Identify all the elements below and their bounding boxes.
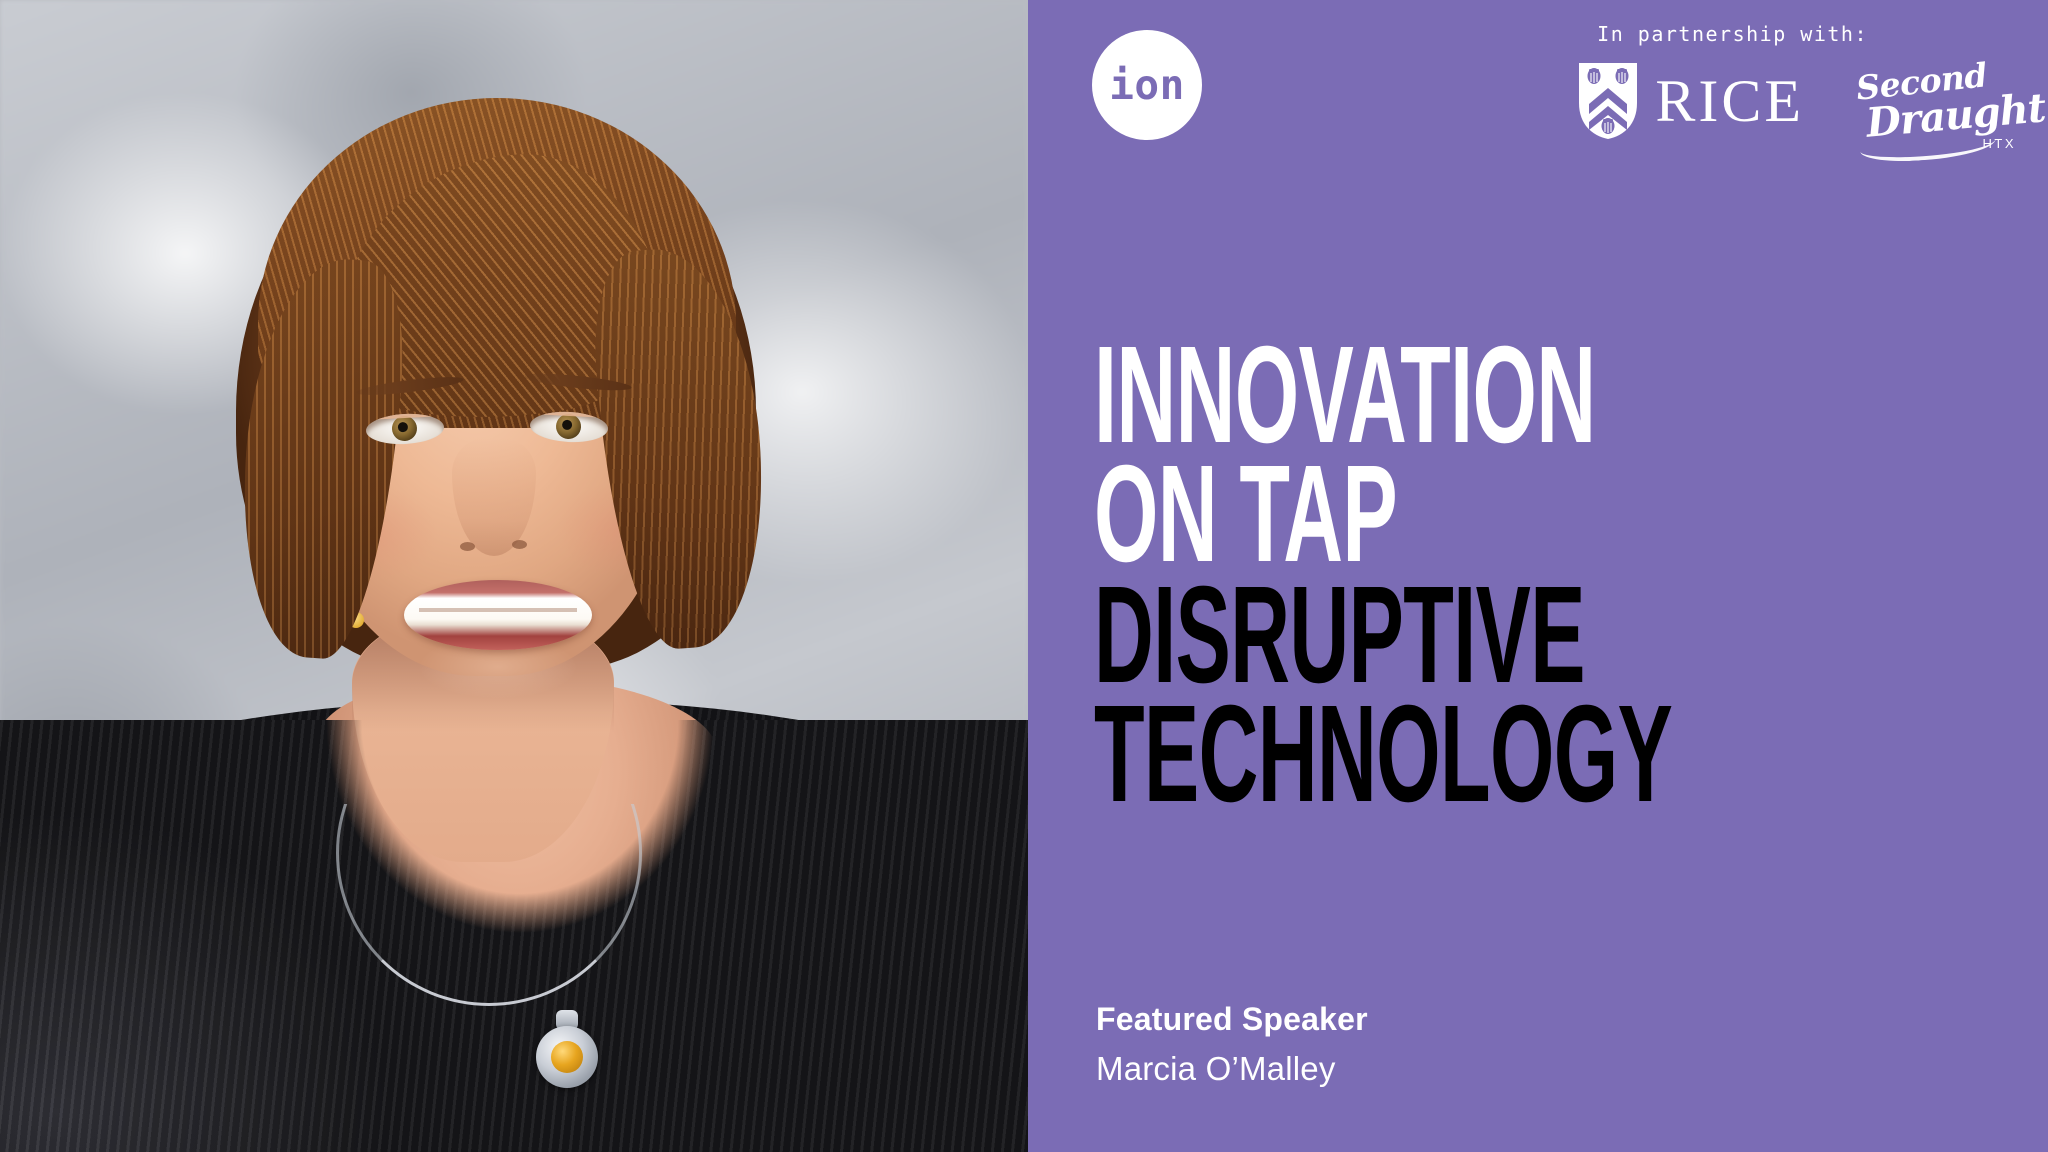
- nostril-left: [460, 542, 475, 551]
- event-headline: INNOVATION ON TAP DISRUPTIVE TECHNOLOGY: [1094, 336, 1994, 814]
- featured-speaker-label: Featured Speaker: [1096, 1000, 1368, 1038]
- ion-logo[interactable]: ion: [1092, 30, 1202, 140]
- featured-speaker-block: Featured Speaker Marcia O’Malley: [1096, 1000, 1368, 1090]
- ion-logo-text: ion: [1109, 65, 1185, 106]
- second-draught-logo[interactable]: Second Draught HTX: [1850, 60, 2018, 152]
- speaker-portrait-photo: [0, 0, 1028, 1152]
- second-draught-swash: [1859, 126, 1996, 163]
- iris-left: [391, 415, 417, 441]
- rice-university-logo[interactable]: RICE: [1577, 60, 1804, 142]
- partners-block: In partnership with:: [1410, 22, 2030, 152]
- content-panel: ion In partnership with:: [1028, 0, 2048, 1152]
- second-draught-htx: HTX: [1983, 136, 2017, 151]
- pendant: [536, 1026, 598, 1088]
- rice-shield-icon: [1577, 60, 1639, 142]
- nostril-right: [512, 540, 527, 549]
- rice-wordmark: RICE: [1655, 74, 1804, 128]
- iris-right: [555, 413, 581, 439]
- headline-line-2: ON TAP: [1094, 455, 1634, 574]
- partners-label: In partnership with:: [1410, 22, 1868, 46]
- smiling-mouth: [404, 580, 592, 650]
- headline-line-4: TECHNOLOGY: [1094, 695, 1634, 814]
- event-promo-poster: ion In partnership with:: [0, 0, 2048, 1152]
- featured-speaker-name: Marcia O’Malley: [1096, 1048, 1368, 1089]
- teeth-line: [419, 608, 577, 612]
- partner-logo-row: RICE Second Draught HTX: [1410, 60, 2030, 152]
